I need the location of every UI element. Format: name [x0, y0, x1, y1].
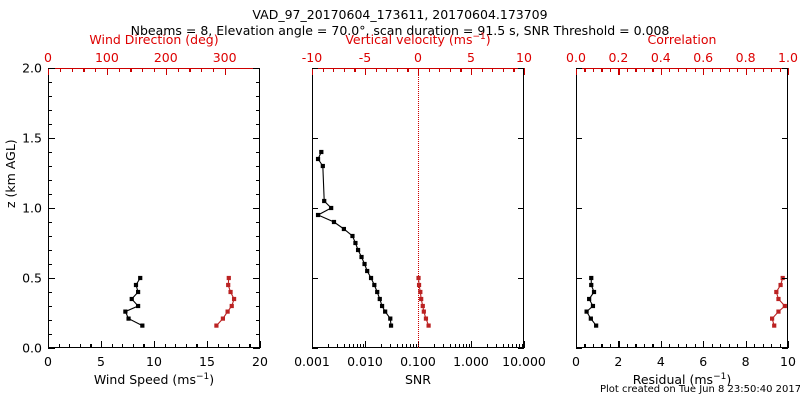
top-axis-tick-label: 200: [154, 50, 178, 65]
data-point: [321, 164, 325, 168]
data-point: [136, 290, 140, 294]
bottom-axis-tick-label: 0: [572, 354, 580, 369]
data-point: [226, 283, 230, 287]
data-point: [770, 317, 774, 321]
y-axis-tick: [253, 278, 260, 279]
y-axis-tick: [312, 348, 318, 349]
data-point: [316, 213, 320, 217]
bottom-axis-tick: [524, 341, 525, 348]
y-axis-minor-tick: [48, 124, 52, 125]
y-axis-minor-tick: [256, 306, 260, 307]
data-point: [591, 304, 595, 308]
y-axis-tick: [782, 278, 788, 279]
y-axis-tick: [576, 68, 582, 69]
y-axis-minor-tick: [48, 264, 52, 265]
data-point: [774, 290, 778, 294]
data-point: [365, 269, 369, 273]
y-axis-tick-label: 1.5: [8, 131, 42, 146]
data-point: [585, 310, 589, 314]
y-axis-minor-tick: [256, 194, 260, 195]
data-point: [418, 290, 422, 294]
data-point: [383, 310, 387, 314]
data-point: [427, 324, 431, 328]
series-layer: [312, 68, 524, 348]
data-point: [362, 262, 366, 266]
bottom-axis-tick: [260, 341, 261, 348]
data-point: [592, 290, 596, 294]
data-point: [214, 324, 218, 328]
data-point: [776, 310, 780, 314]
top-axis-tick: [524, 68, 525, 75]
y-axis-title: z (km AGL): [3, 139, 18, 208]
top-axis-tick-label: 300: [213, 50, 237, 65]
data-point: [772, 324, 776, 328]
y-axis-minor-tick: [48, 292, 52, 293]
bottom-axis-tick-label: 20: [252, 354, 268, 369]
y-axis-tick: [253, 348, 260, 349]
data-point: [316, 157, 320, 161]
y-axis-minor-tick: [256, 110, 260, 111]
top-axis-tick-label: 5: [467, 50, 475, 65]
y-axis-minor-tick: [48, 320, 52, 321]
data-point: [342, 227, 346, 231]
y-axis-tick: [253, 68, 260, 69]
y-axis-tick: [48, 138, 55, 139]
data-point: [587, 297, 591, 301]
bottom-axis-title: SNR: [312, 372, 524, 387]
data-point: [417, 283, 421, 287]
y-axis-minor-tick: [48, 306, 52, 307]
data-point: [776, 297, 780, 301]
data-point: [419, 297, 423, 301]
y-axis-minor-tick: [256, 166, 260, 167]
y-axis-minor-tick: [256, 264, 260, 265]
bottom-axis-title: Wind Speed (ms−1): [48, 372, 260, 387]
y-axis-minor-tick: [256, 236, 260, 237]
y-axis-minor-tick: [48, 82, 52, 83]
top-axis-title: Correlation: [576, 32, 788, 47]
bottom-axis-tick-label: 8: [742, 354, 750, 369]
data-point: [350, 234, 354, 238]
data-point: [230, 304, 234, 308]
series-layer: [48, 68, 260, 348]
data-point: [226, 310, 230, 314]
y-axis-minor-tick: [48, 166, 52, 167]
y-axis-minor-tick: [48, 194, 52, 195]
data-point: [359, 255, 363, 259]
y-axis-tick: [518, 208, 524, 209]
plot-figure: VAD_97_20170604_173611, 20170604.173709 …: [0, 0, 800, 400]
y-axis-tick-label: 2.0: [8, 61, 42, 76]
y-axis-tick: [782, 208, 788, 209]
data-point: [421, 304, 425, 308]
data-point: [134, 283, 138, 287]
y-axis-minor-tick: [256, 334, 260, 335]
panel-snr-vertical-velocity: [312, 68, 524, 348]
data-point: [594, 324, 598, 328]
y-axis-tick: [312, 278, 318, 279]
data-point: [329, 206, 333, 210]
data-point: [319, 150, 323, 154]
y-axis-tick: [48, 348, 55, 349]
y-axis-minor-tick: [256, 124, 260, 125]
y-axis-tick: [253, 208, 260, 209]
data-point: [322, 199, 326, 203]
data-point: [140, 324, 144, 328]
data-point: [416, 276, 420, 280]
y-axis-minor-tick: [256, 222, 260, 223]
bottom-axis-tick-label: 15: [199, 354, 215, 369]
bottom-axis-title: Residual (ms−1): [576, 372, 788, 387]
y-axis-tick-label: 0.5: [8, 271, 42, 286]
data-point: [388, 317, 392, 321]
y-axis-minor-tick: [256, 250, 260, 251]
y-axis-tick: [576, 208, 582, 209]
y-axis-tick: [518, 278, 524, 279]
top-axis-tick-label: 0: [44, 50, 52, 65]
top-axis-tick-label: 100: [95, 50, 119, 65]
figure-title-line1: VAD_97_20170604_173611, 20170604.173709: [0, 7, 800, 22]
series-line: [216, 278, 234, 326]
data-point: [589, 276, 593, 280]
y-axis-minor-tick: [48, 236, 52, 237]
data-point: [227, 276, 231, 280]
y-axis-minor-tick: [256, 292, 260, 293]
data-point: [228, 290, 232, 294]
y-axis-tick: [518, 138, 524, 139]
y-axis-minor-tick: [48, 152, 52, 153]
data-point: [332, 220, 336, 224]
data-point: [422, 310, 426, 314]
bottom-axis-tick-label: 1.000: [453, 354, 489, 369]
top-axis-tick-label: -10: [302, 50, 322, 65]
y-axis-tick: [782, 68, 788, 69]
top-axis-tick: [788, 68, 789, 75]
bottom-axis-tick-label: 0.100: [400, 354, 436, 369]
y-axis-tick: [782, 138, 788, 139]
bottom-axis-tick-label: 10: [146, 354, 162, 369]
top-axis-tick-label: 0.6: [693, 50, 713, 65]
data-point: [126, 317, 130, 321]
y-axis-minor-tick: [48, 110, 52, 111]
top-axis-title: Vertical velocity (ms−1): [312, 32, 524, 47]
data-point: [353, 241, 357, 245]
bottom-axis-tick-label: 0: [44, 354, 52, 369]
top-axis-tick-label: 1.0: [778, 50, 798, 65]
data-point: [369, 276, 373, 280]
data-point: [232, 297, 236, 301]
top-axis-tick-label: 0.0: [566, 50, 586, 65]
y-axis-minor-tick: [256, 82, 260, 83]
data-point: [380, 304, 384, 308]
data-point: [778, 283, 782, 287]
bottom-axis-tick-label: 0.010: [347, 354, 383, 369]
data-point: [424, 317, 428, 321]
y-axis-tick: [576, 278, 582, 279]
bottom-axis-tick-label: 0.001: [294, 354, 330, 369]
bottom-axis-tick-label: 10.000: [502, 354, 546, 369]
y-axis-tick: [782, 348, 788, 349]
data-point: [589, 317, 593, 321]
data-point: [123, 310, 127, 314]
bottom-axis-tick-label: 4: [657, 354, 665, 369]
y-axis-minor-tick: [48, 222, 52, 223]
y-axis-tick: [312, 208, 318, 209]
data-point: [389, 324, 393, 328]
data-point: [138, 276, 142, 280]
top-axis-tick-label: 0.8: [736, 50, 756, 65]
bottom-axis-tick-label: 10: [780, 354, 796, 369]
data-point: [378, 297, 382, 301]
y-axis-tick: [48, 278, 55, 279]
y-axis-minor-tick: [256, 180, 260, 181]
y-axis-tick: [518, 68, 524, 69]
y-axis-tick: [576, 348, 582, 349]
series-layer: [576, 68, 788, 348]
y-axis-minor-tick: [256, 152, 260, 153]
top-axis-tick-label: -5: [359, 50, 371, 65]
y-axis-tick: [253, 138, 260, 139]
y-axis-minor-tick: [48, 96, 52, 97]
y-axis-tick: [48, 68, 55, 69]
panel-wind-profile: [48, 68, 260, 348]
bottom-axis-tick-label: 5: [97, 354, 105, 369]
panel-residual-correlation: [576, 68, 788, 348]
data-point: [372, 283, 376, 287]
y-axis-minor-tick: [256, 320, 260, 321]
top-axis-tick-label: 10: [516, 50, 532, 65]
y-axis-tick: [312, 68, 318, 69]
top-axis-tick-label: 0.2: [608, 50, 628, 65]
bottom-axis-tick: [788, 341, 789, 348]
data-point: [783, 304, 787, 308]
y-axis-tick: [518, 348, 524, 349]
y-axis-minor-tick: [48, 334, 52, 335]
y-axis-tick-label: 0.0: [8, 341, 42, 356]
bottom-axis-tick-label: 2: [614, 354, 622, 369]
data-point: [589, 283, 593, 287]
top-axis-tick-label: 0.4: [651, 50, 671, 65]
y-axis-minor-tick: [48, 250, 52, 251]
data-point: [136, 304, 140, 308]
top-axis-title: Wind Direction (deg): [48, 32, 260, 47]
y-axis-tick: [576, 138, 582, 139]
bottom-axis-tick-label: 6: [699, 354, 707, 369]
y-axis-tick: [48, 208, 55, 209]
top-axis-tick-label: 0: [414, 50, 422, 65]
y-axis-minor-tick: [256, 96, 260, 97]
data-point: [356, 248, 360, 252]
y-axis-minor-tick: [48, 180, 52, 181]
data-point: [375, 290, 379, 294]
data-point: [221, 317, 225, 321]
data-point: [130, 297, 134, 301]
y-axis-tick-label: 1.0: [8, 201, 42, 216]
y-axis-tick: [312, 138, 318, 139]
